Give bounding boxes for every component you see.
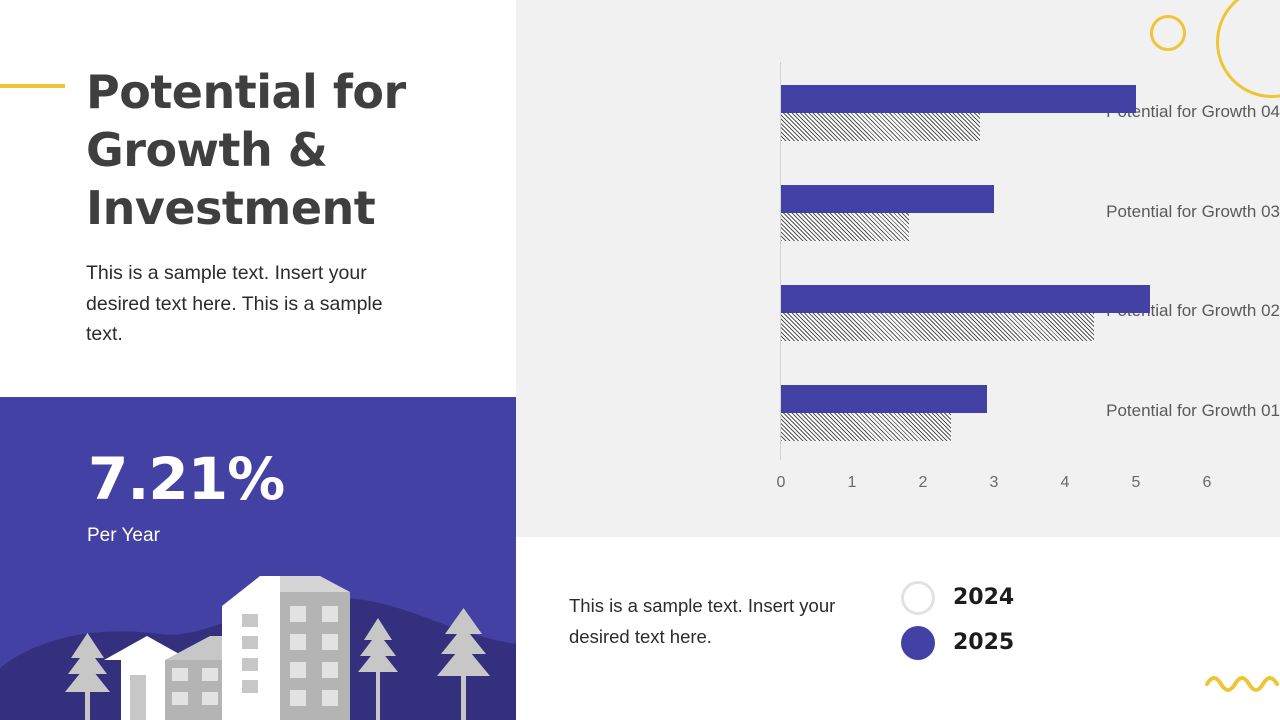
- bottom-bar: This is a sample text. Insert your desir…: [516, 537, 1280, 720]
- bar-2024-growth-01: [781, 413, 951, 441]
- x-tick-1: 1: [848, 474, 857, 492]
- legend-item-2024[interactable]: 2024: [901, 575, 1014, 620]
- bar-2025-growth-02: [781, 285, 1150, 313]
- accent-line: [0, 84, 65, 88]
- bar-2024-growth-03: [781, 213, 909, 241]
- city-illustration: [0, 540, 516, 720]
- legend-swatch-2025-icon: [901, 626, 935, 660]
- bar-2025-growth-03: [781, 185, 994, 213]
- slide: Potential for Growth & Investment This i…: [0, 0, 1280, 720]
- x-tick-3: 3: [990, 474, 999, 492]
- chart-category-label: Potential for Growth 01: [1040, 401, 1280, 421]
- chart-legend: 2024 2025: [901, 575, 1014, 665]
- building-shape-gray: [280, 576, 350, 720]
- x-tick-2: 2: [919, 474, 928, 492]
- x-tick-6: 6: [1203, 474, 1212, 492]
- intro-paragraph: This is a sample text. Insert your desir…: [86, 258, 416, 350]
- bar-2024-growth-02: [781, 313, 1094, 341]
- bar-2024-growth-04: [781, 113, 980, 141]
- circle-outline-decoration-icon: [1150, 15, 1186, 51]
- bar-2025-growth-04: [781, 85, 1136, 113]
- bottom-caption: This is a sample text. Insert your desir…: [569, 590, 849, 652]
- stat-value: 7.21%: [88, 449, 284, 509]
- chart-category-label: Potential for Growth 03: [1040, 202, 1280, 222]
- bar-2025-growth-01: [781, 385, 987, 413]
- stat-label: Per Year: [87, 525, 160, 547]
- page-title: Potential for Growth & Investment: [86, 63, 486, 237]
- left-text-panel: Potential for Growth & Investment This i…: [0, 0, 516, 397]
- stat-panel: 7.21% Per Year: [0, 397, 516, 720]
- chart-panel: Potential for Growth 04 Potential for Gr…: [516, 0, 1280, 537]
- x-tick-0: 0: [777, 474, 786, 492]
- legend-swatch-2024-icon: [901, 581, 935, 615]
- legend-label-2025: 2025: [953, 630, 1014, 655]
- building-shape-white: [222, 576, 280, 720]
- x-tick-5: 5: [1132, 474, 1141, 492]
- bar-chart: Potential for Growth 04 Potential for Gr…: [516, 0, 1280, 537]
- legend-item-2025[interactable]: 2025: [901, 620, 1014, 665]
- legend-label-2024: 2024: [953, 585, 1014, 610]
- x-tick-4: 4: [1061, 474, 1070, 492]
